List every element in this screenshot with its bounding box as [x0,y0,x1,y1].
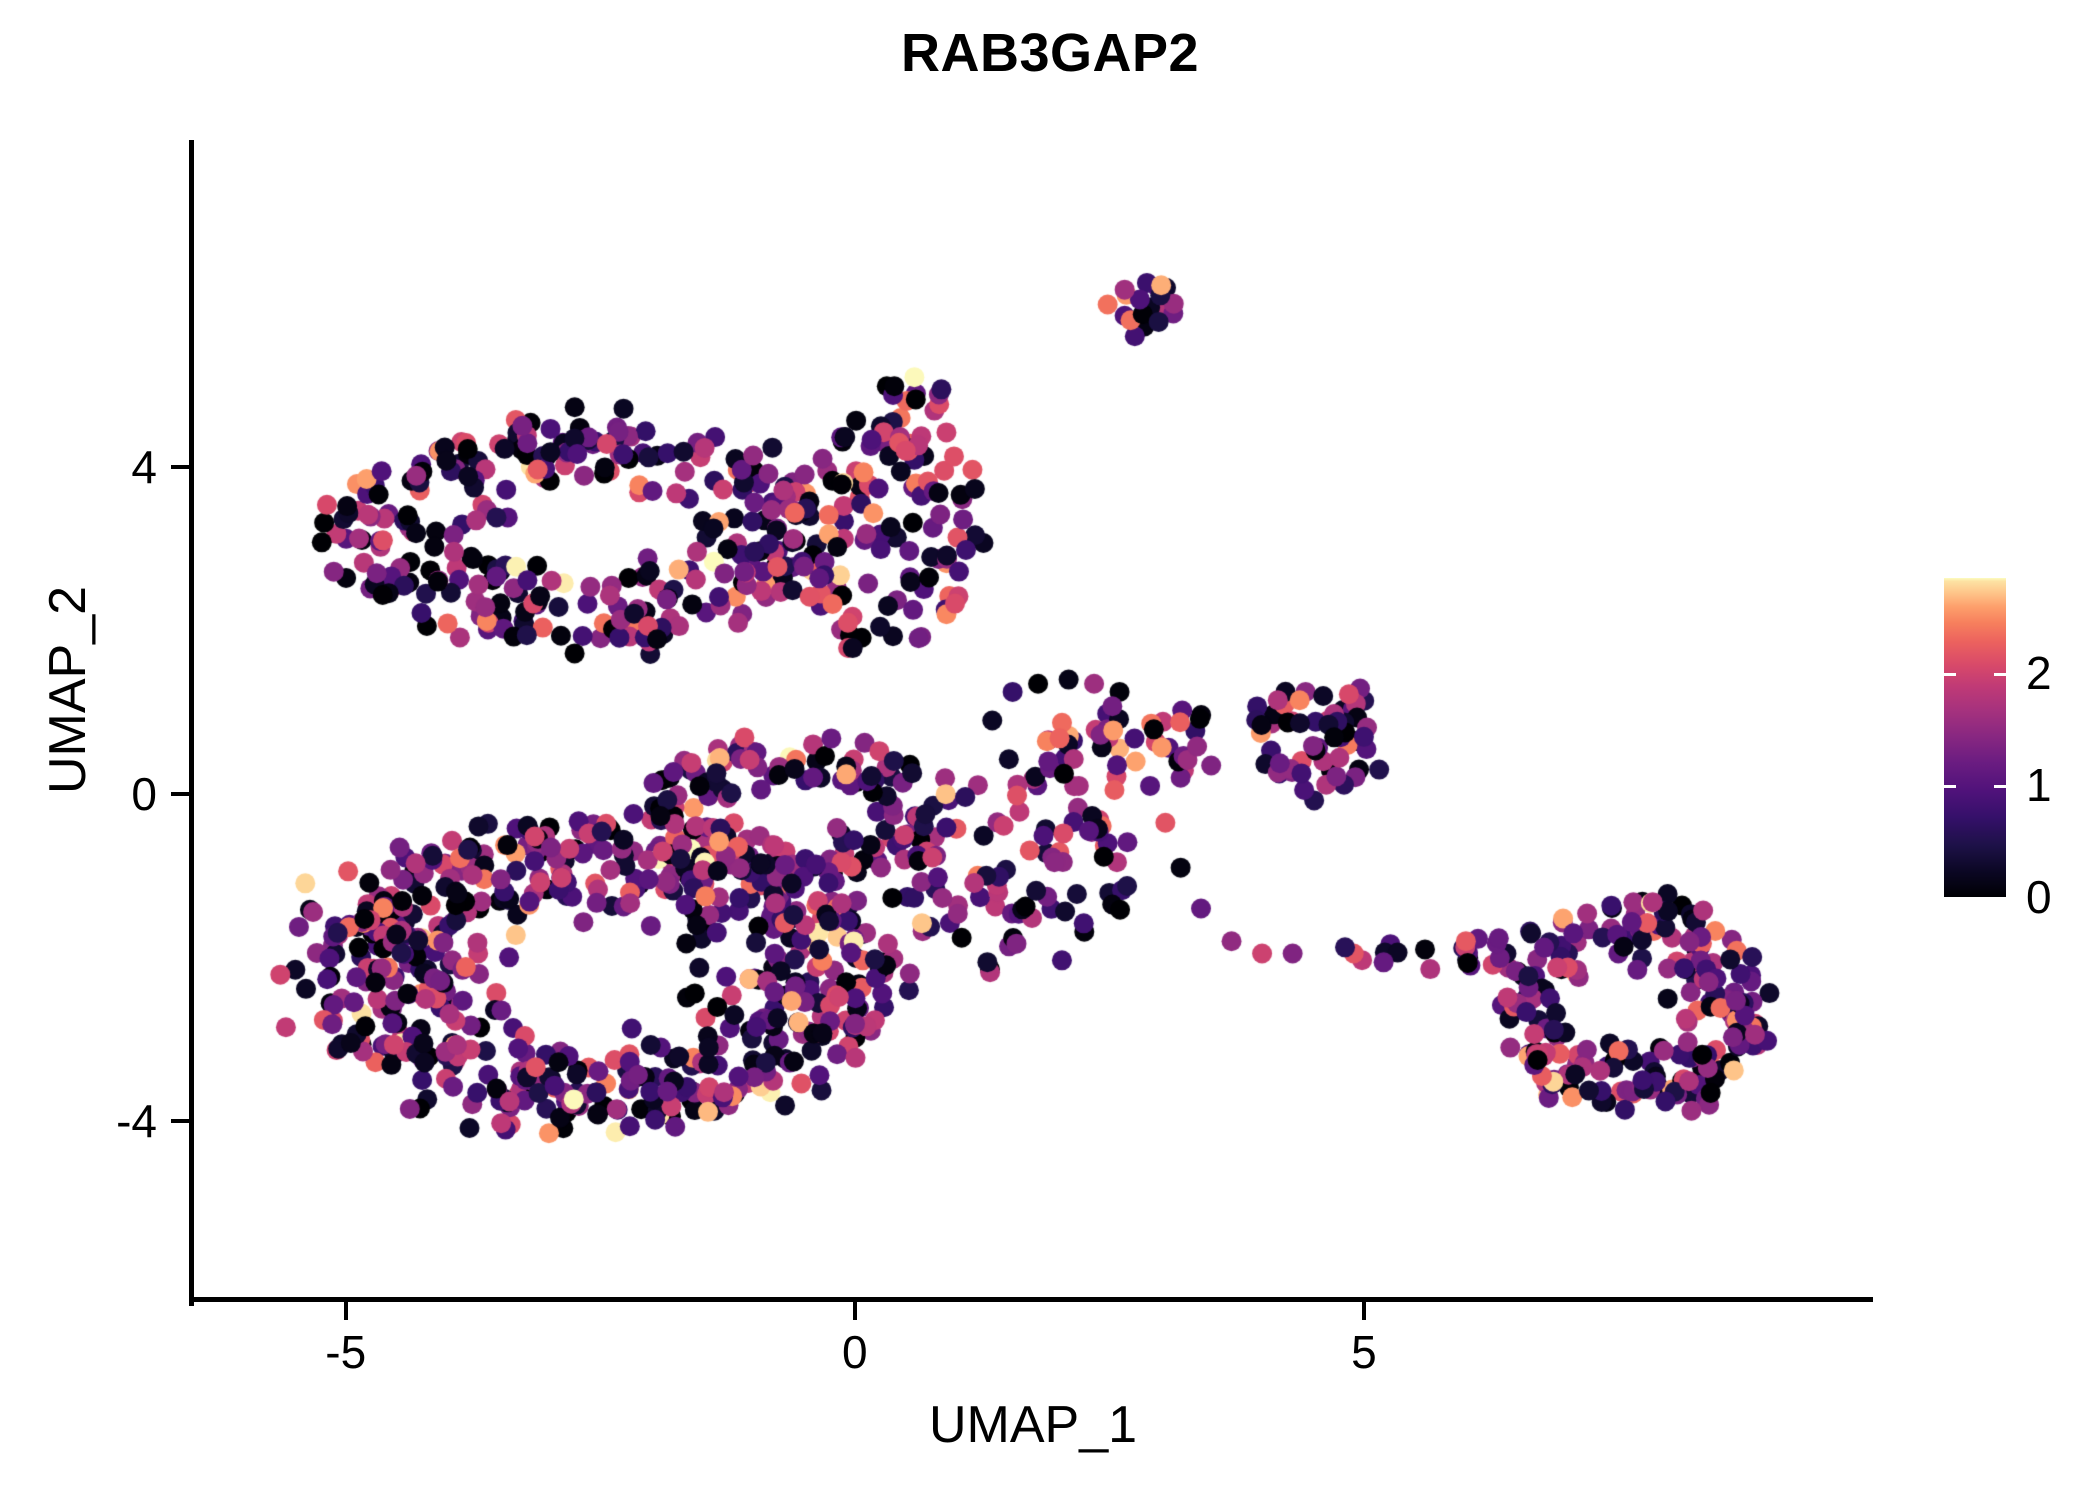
colorbar-tick [1994,897,2006,900]
y-axis-tick [171,792,189,796]
y-axis-title: UMAP_2 [38,340,98,1040]
y-axis-line [189,140,194,1306]
colorbar-tick-label: 2 [2026,646,2052,700]
x-axis-tick [344,1302,348,1320]
x-axis-tick-label: -5 [325,1325,366,1379]
scatter-points-layer [193,140,1873,1301]
x-axis-tick [853,1302,857,1320]
colorbar-tick [1994,785,2006,788]
page-title: RAB3GAP2 [0,22,2100,84]
plot-panel [193,140,1873,1301]
x-axis-tick-label: 0 [842,1325,868,1379]
x-axis-tick [1362,1302,1366,1320]
umap-feature-plot: RAB3GAP2 -5 0 5 4 0 -4 UMAP_1 UMAP_2 2 1… [0,0,2100,1500]
y-axis-tick-label: -4 [116,1094,157,1148]
y-axis-tick [171,1119,189,1123]
colorbar-tick-label: 0 [2026,870,2052,924]
colorbar-tick-label: 1 [2026,758,2052,812]
y-axis-tick-label: 4 [131,440,157,494]
colorbar-gradient [1944,578,2006,897]
y-axis-tick [171,465,189,469]
x-axis-tick-label: 5 [1351,1325,1377,1379]
colorbar-tick [1994,673,2006,676]
y-axis-tick-label: 0 [131,767,157,821]
colorbar-tick [1944,673,1956,676]
colorbar-tick [1944,785,1956,788]
colorbar-tick [1944,897,1956,900]
x-axis-line [189,1297,1873,1302]
x-axis-title: UMAP_1 [193,1395,1873,1455]
